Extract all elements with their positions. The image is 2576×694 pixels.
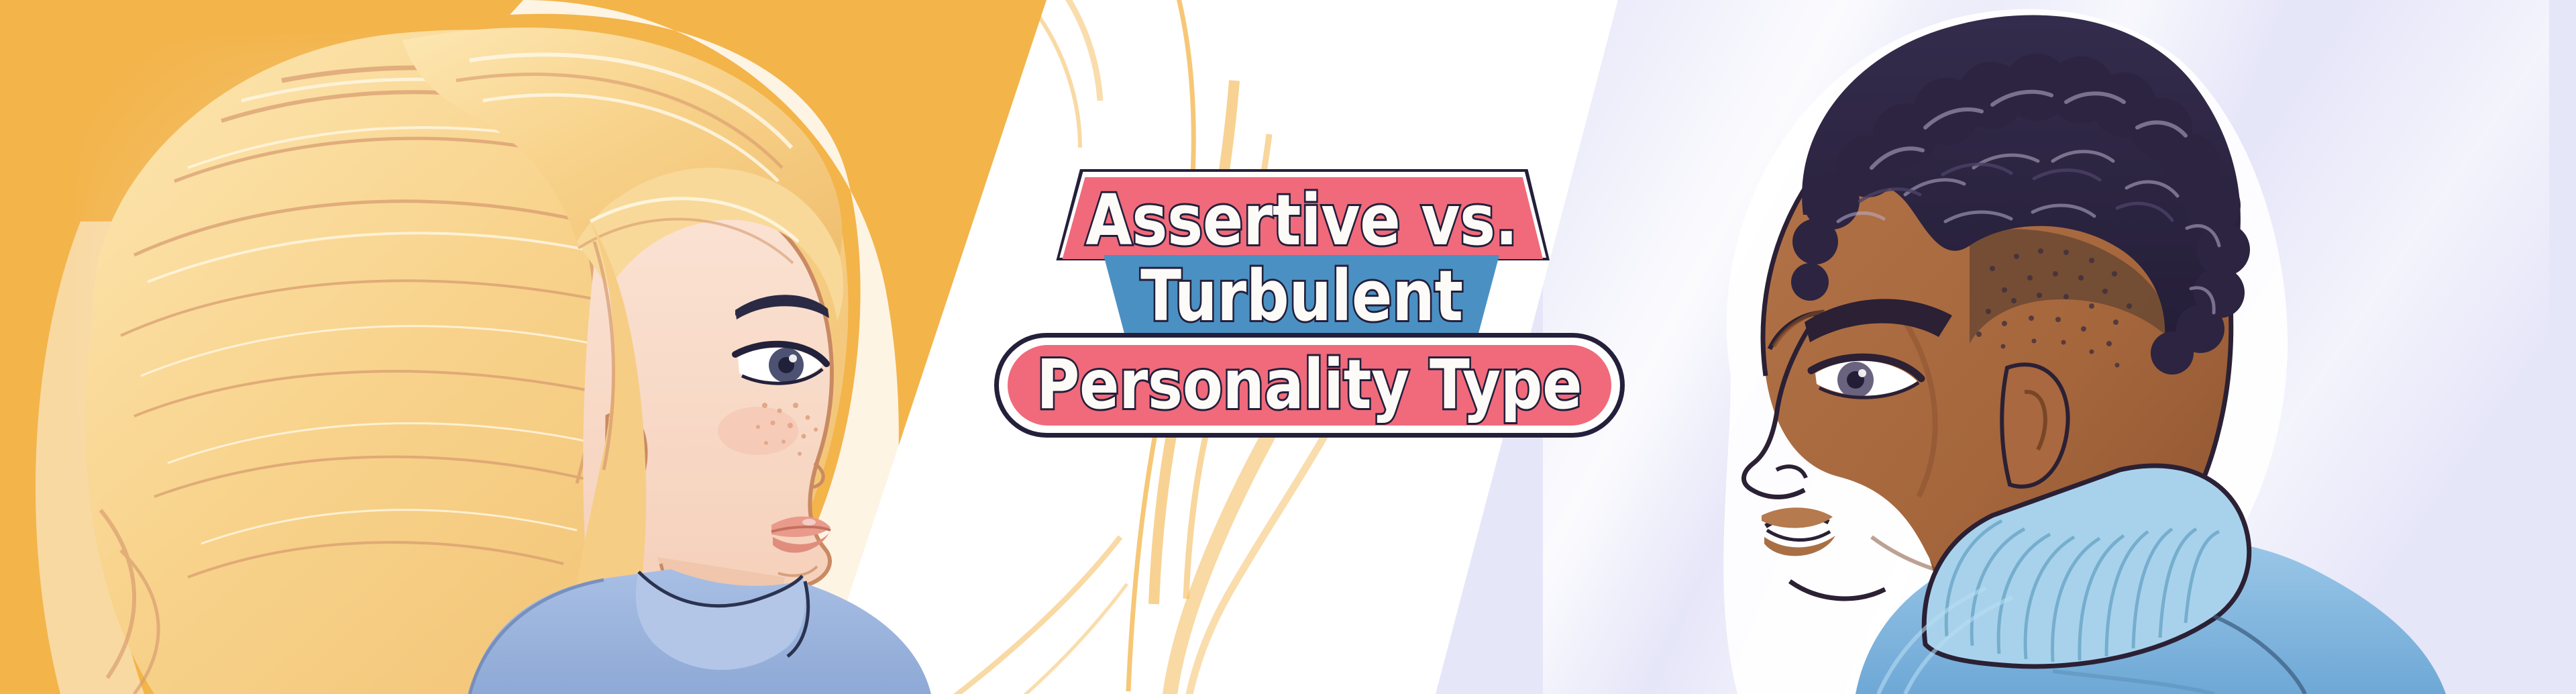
banner-assertive-label-wrap: Assertive vs. (1053, 169, 1550, 260)
banner-turbulent-label-wrap: Turbulent (1104, 255, 1499, 337)
banner-line-2-text: Turbulent (1140, 261, 1463, 331)
banner-personality-type: Personality Type (994, 333, 1625, 438)
title-banner-group: Assertive vs. Turbulent Personality Type (959, 161, 1670, 450)
left-character-eye (735, 344, 826, 383)
banner-line-1-text: Assertive vs. (1085, 185, 1517, 255)
banner-line-3-text: Personality Type (1037, 351, 1582, 419)
left-character-illustration (0, 0, 939, 694)
banner-assertive-vs: Assertive vs. (1053, 169, 1550, 260)
banner-personality-label-wrap: Personality Type (994, 333, 1625, 438)
right-character-illustration (1704, 0, 2576, 694)
banner-turbulent: Turbulent (1104, 255, 1499, 337)
banner-artwork: Assertive vs. Turbulent Personality Type (0, 0, 2576, 694)
